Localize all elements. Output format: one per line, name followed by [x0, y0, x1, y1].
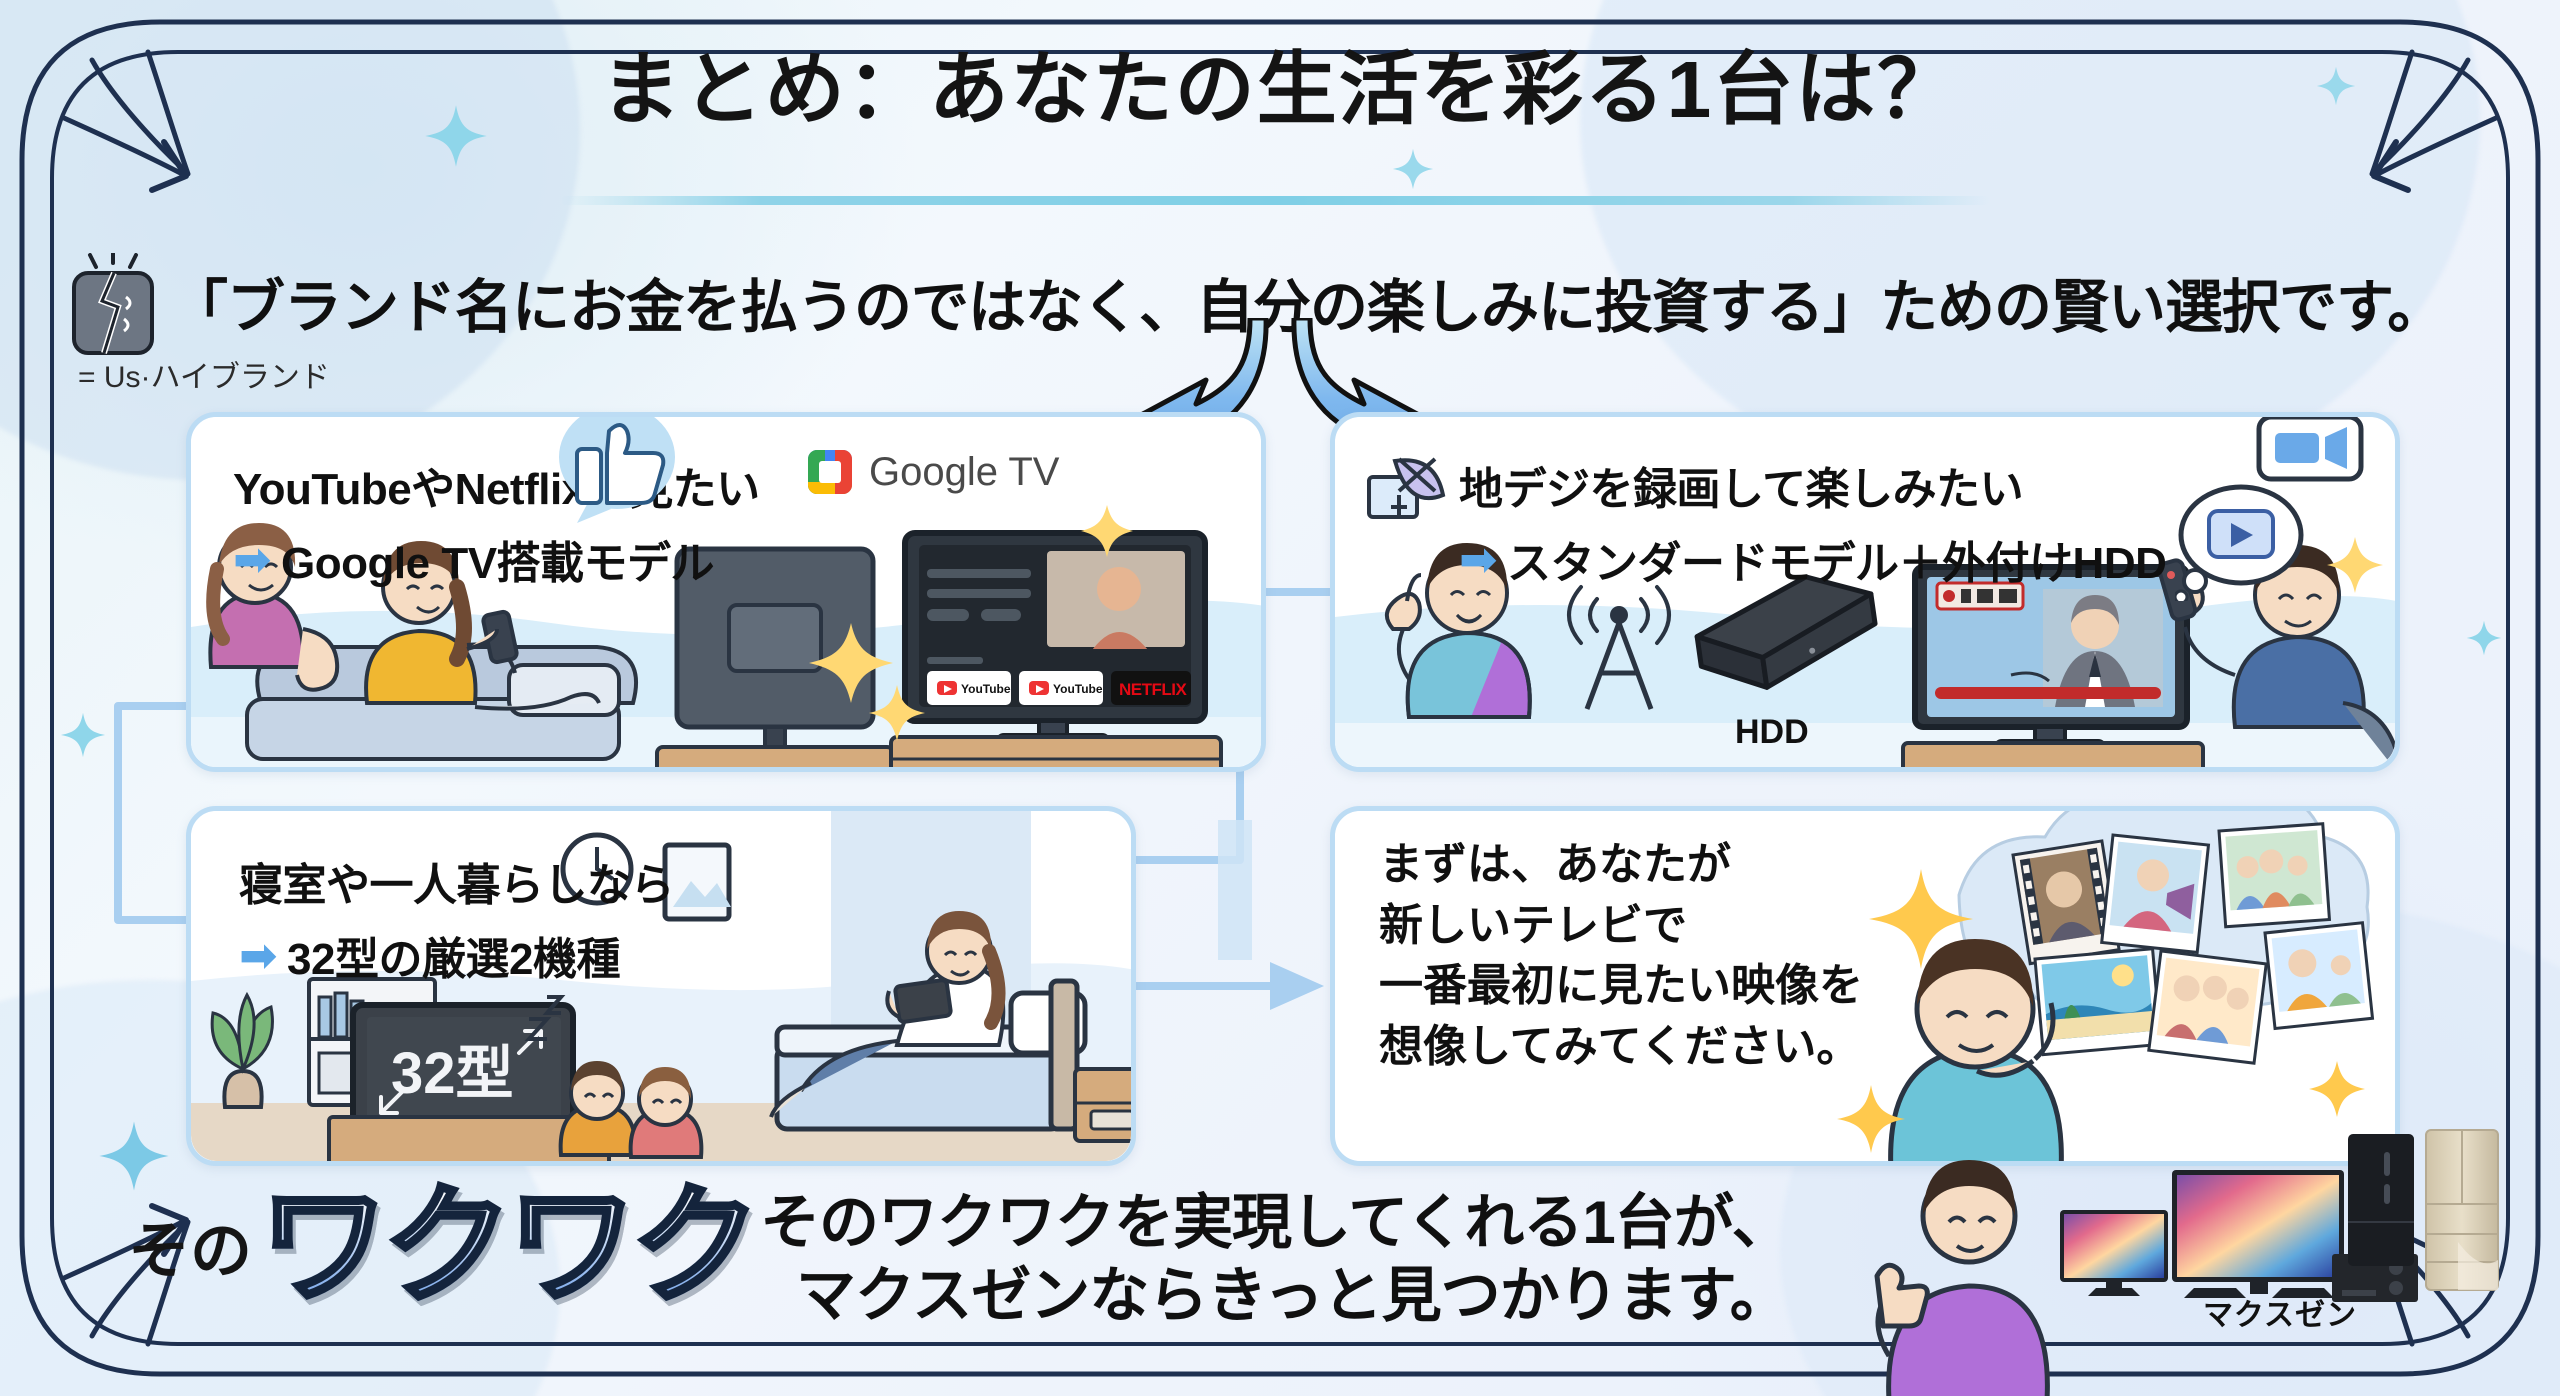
card-2-arrow-icon: ➡	[1459, 536, 1497, 582]
svg-text:YouTube: YouTube	[961, 682, 1011, 696]
page-title: まとめ：あなたの生活を彩る1台は？	[0, 48, 2560, 132]
infographic-canvas: まとめ：あなたの生活を彩る1台は？ 「ブランド名にお金を払うのではなく、自分の楽…	[0, 0, 2560, 1396]
title-underline	[560, 196, 1990, 205]
wakuwaku-prefix: その	[128, 1200, 252, 1290]
page-title-wrap: まとめ：あなたの生活を彩る1台は？	[0, 48, 2560, 132]
card-4-heading: まずは、あなたが 新しいテレビで 一番最初に見たい映像を 想像してみてください。	[1379, 835, 1863, 1078]
card-3-heading: 寝室や一人暮らしなら ➡ 32型の厳選2機種	[239, 849, 674, 987]
wakuwaku-logotype: その ワクワク	[128, 1188, 756, 1306]
broken-money-icon	[70, 253, 156, 357]
maxzen-brand-label: マクスゼン	[2130, 1290, 2430, 1334]
arrow-into-card4-icon	[1270, 962, 1324, 1010]
card-imagine[interactable]: まずは、あなたが 新しいテレビで 一番最初に見たい映像を 想像してみてください。	[1330, 806, 2400, 1166]
card-1-line2-row: ➡ Google TV搭載モデル	[233, 527, 760, 591]
card-4-line1: まずは、あなたが	[1379, 835, 1863, 896]
maxzen-product-cluster	[2060, 1122, 2500, 1372]
svg-text:NETFLIX: NETFLIX	[1119, 680, 1187, 699]
card-4-line4: 想像してみてください。	[1379, 1017, 1863, 1078]
google-tv-logo-text: Google TV	[869, 450, 1060, 495]
antenna-tv-icon	[1365, 451, 1453, 529]
thought-bubble-play-icon	[2175, 481, 2305, 601]
svg-text:YouTube: YouTube	[1053, 682, 1103, 696]
svg-text:32型: 32型	[391, 1041, 514, 1106]
card-4-line2: 新しいテレビで	[1379, 896, 1863, 957]
card-3-line2: 32型の厳選2機種	[287, 923, 620, 987]
thumbs-up-icon	[551, 412, 681, 527]
card-2-line2-row: ➡ スタンダードモデル＋外付けHDD	[1459, 527, 2166, 591]
sparkle-icon	[60, 712, 106, 758]
card-2-heading: 地デジを録画して楽しみたい ➡ スタンダードモデル＋外付けHDD	[1459, 453, 2166, 591]
closing-line-2: マクスゼンならきっと見つかります。	[760, 1259, 1791, 1332]
card-4-line3: 一番最初に見たい映像を	[1379, 956, 1863, 1017]
sparkle-icon	[2466, 620, 2502, 656]
closing-text: そのワクワクを実現してくれる1台が、 マクスゼンならきっと見つかります。	[760, 1186, 1791, 1332]
wakuwaku-word: ワクワク	[260, 1188, 756, 1306]
google-tv-mark-icon	[807, 449, 853, 495]
card-2-line2: スタンダードモデル＋外付けHDD	[1507, 527, 2166, 591]
card-2-line1: 地デジを録画して楽しみたい	[1459, 453, 2166, 517]
card-3-line2-row: ➡ 32型の厳選2機種	[239, 923, 674, 987]
google-tv-logo: Google TV	[807, 449, 1060, 495]
brand-note: = Us·ハイブランド	[78, 352, 330, 396]
svg-text:HDD: HDD	[1735, 713, 1809, 751]
closing-line-1: そのワクワクを実現してくれる1台が、	[760, 1186, 1791, 1259]
card-3-arrow-icon: ➡	[239, 932, 277, 978]
subtitle-tail: 」ための賢い選択です。	[1823, 275, 2444, 340]
card-3-line1: 寝室や一人暮らしなら	[239, 849, 674, 913]
card-32inch[interactable]: 32型	[186, 806, 1136, 1166]
card-1-line2: Google TV搭載モデル	[281, 527, 714, 591]
card-standard-hdd[interactable]: HDD	[1330, 412, 2400, 772]
sparkle-icon	[1392, 148, 1434, 190]
card-1-arrow-icon: ➡	[233, 536, 271, 582]
thumbs-up-person	[1845, 1150, 2075, 1396]
card-google-tv[interactable]: YouTube YouTube NETFLIX	[186, 412, 1266, 772]
